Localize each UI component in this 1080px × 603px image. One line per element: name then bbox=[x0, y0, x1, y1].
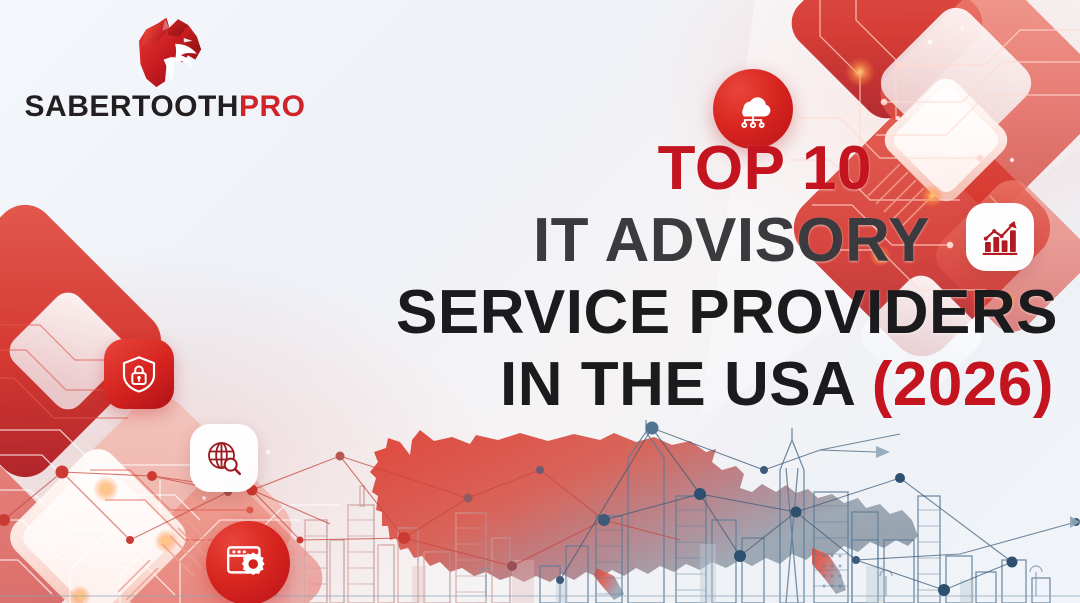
headline-line-two: IT ADVISORY bbox=[0, 210, 1058, 272]
globe-search-icon bbox=[204, 438, 244, 478]
usa-map-silhouette bbox=[370, 430, 918, 600]
headline-year: (2026) bbox=[872, 350, 1054, 419]
brand-name-red: PRO bbox=[239, 90, 306, 123]
brand-name-dark: SABERTOOTH bbox=[25, 90, 239, 123]
headline-location: IN THE USA bbox=[500, 350, 872, 419]
headline-line-four: IN THE USA (2026) bbox=[0, 354, 1058, 416]
cloud-network-icon bbox=[731, 87, 775, 131]
street-lamps bbox=[270, 566, 1042, 596]
headline-line-top: TOP 10 bbox=[0, 138, 1058, 200]
brand-logo[interactable]: SABERTOOTHPRO bbox=[30, 12, 300, 132]
headline-line-three: SERVICE PROVIDERS bbox=[0, 282, 1058, 344]
brand-wordmark: SABERTOOTHPRO bbox=[25, 92, 306, 122]
badge-web-configuration[interactable] bbox=[206, 521, 290, 603]
banner-root: SABERTOOTHPRO TOP 10 IT ADVISORY SERVICE… bbox=[0, 0, 1080, 603]
browser-gear-icon bbox=[223, 538, 273, 588]
headline-block: TOP 10 IT ADVISORY SERVICE PROVIDERS IN … bbox=[0, 138, 1058, 416]
sabertooth-tiger-head-icon bbox=[121, 12, 209, 90]
badge-global-search[interactable] bbox=[190, 424, 258, 492]
